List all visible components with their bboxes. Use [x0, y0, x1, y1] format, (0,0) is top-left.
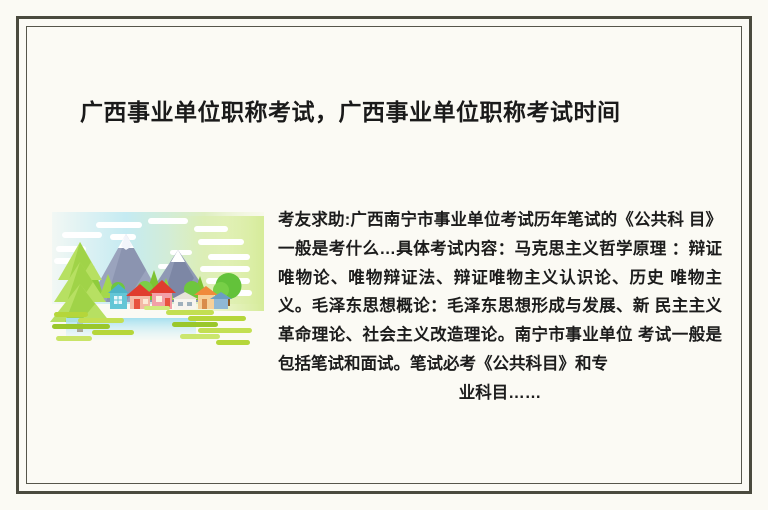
article-page: 广西事业单位职称考试，广西事业单位职称考试时间 [0, 0, 768, 510]
mountain-village-illustration [48, 206, 268, 366]
page-title: 广西事业单位职称考试，广西事业单位职称考试时间 [80, 95, 700, 129]
body-line-last: 业科目…… [278, 379, 722, 408]
body-line: 考友求助:广西南宁市事业单位考试历年笔试的《公共科 [278, 211, 684, 229]
article-body: 考友求助:广西南宁市事业单位考试历年笔试的《公共科 目》一般是考什么…具体考试内… [278, 206, 722, 408]
